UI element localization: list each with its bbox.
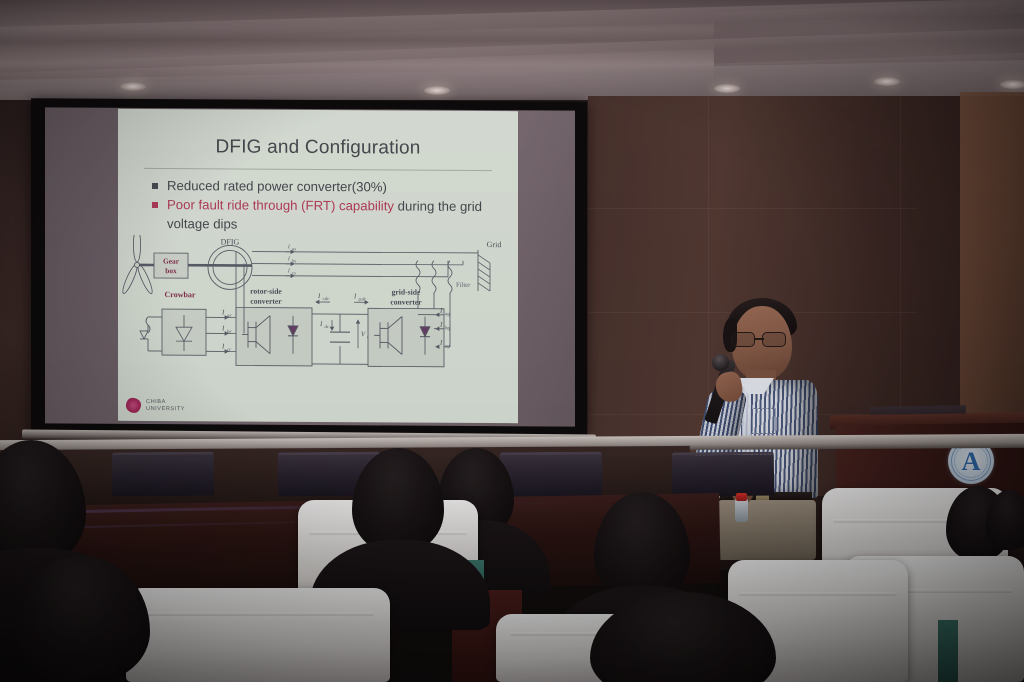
svg-text:I: I — [319, 321, 323, 328]
wall-seam — [588, 208, 918, 209]
svg-text:dc: dc — [325, 324, 329, 329]
svg-text:grid-side: grid-side — [392, 287, 421, 296]
chiba-logo-text: CHIBA UNIVERSITY — [146, 399, 185, 412]
svg-text:ag: ag — [445, 312, 450, 317]
title-divider — [144, 168, 492, 171]
ceiling-downlight — [120, 82, 146, 91]
svg-text:Filter: Filter — [456, 282, 471, 289]
empty-chair — [112, 452, 214, 497]
svg-text:br: br — [227, 330, 231, 335]
svg-text:box: box — [165, 266, 177, 275]
svg-text:i: i — [288, 243, 290, 250]
svg-text:ar: ar — [227, 314, 231, 319]
svg-text:r,dc: r,dc — [323, 296, 330, 302]
svg-text:converter: converter — [250, 297, 282, 306]
chiba-university-logo: CHIBA UNIVERSITY — [126, 398, 185, 413]
bullet-item: Reduced rated power converter(30%) — [152, 177, 500, 196]
presenter-shirt-pocket — [752, 408, 776, 434]
slide-bullet-list: Reduced rated power converter(30%) Poor … — [152, 177, 500, 234]
chair-frame — [938, 620, 958, 682]
ceiling-downlight — [1000, 80, 1024, 89]
empty-chair — [500, 452, 602, 497]
svg-text:cr: cr — [227, 348, 231, 353]
presenter-trousers — [718, 500, 816, 560]
svg-text:I: I — [221, 342, 225, 350]
ceiling-downlight — [424, 86, 450, 95]
glasses-lens-right — [762, 332, 786, 347]
svg-text:bg: bg — [445, 326, 450, 331]
empty-chair — [672, 452, 774, 497]
svg-text:I: I — [221, 308, 225, 316]
bullet-grey-part: during the grid — [394, 198, 482, 214]
svg-text:Crowbar: Crowbar — [165, 290, 196, 299]
svg-text:i: i — [288, 267, 290, 274]
svg-text:rotor-side: rotor-side — [250, 287, 282, 296]
bullet-text: Reduced rated power converter(30%) — [167, 177, 387, 195]
emblem-letter: A — [962, 447, 981, 477]
chiba-line-2: UNIVERSITY — [146, 405, 185, 412]
bottle-cap — [736, 493, 747, 501]
dfig-circuit-diagram: Gear box DFIG — [118, 235, 518, 387]
svg-text:V: V — [361, 331, 366, 338]
svg-text:i: i — [288, 255, 290, 262]
svg-text:Grid: Grid — [487, 240, 502, 249]
presenter-glasses — [730, 332, 792, 347]
presentation-slide: DFIG and Configuration Reduced rated pow… — [118, 109, 518, 423]
conference-room-photo: DFIG and Configuration Reduced rated pow… — [0, 0, 1024, 682]
svg-text:bs: bs — [292, 258, 296, 263]
svg-text:as: as — [292, 246, 296, 251]
svg-text:Gear: Gear — [163, 257, 180, 266]
bullet-square-icon — [152, 202, 158, 208]
bullet-item: Poor fault ride through (FRT) capability… — [152, 196, 500, 215]
svg-text:I: I — [221, 324, 225, 332]
svg-text:cg: cg — [445, 344, 450, 349]
bullet-text-highlight: Poor fault ride through (FRT) capability… — [167, 196, 482, 215]
svg-text:converter: converter — [390, 297, 422, 306]
chair-cover — [126, 588, 390, 682]
ceiling-downlight — [874, 77, 900, 86]
glasses-lens-left — [731, 332, 755, 347]
chiba-flower-icon — [126, 398, 141, 413]
ceiling-downlight — [714, 84, 740, 93]
svg-text:I: I — [317, 293, 321, 300]
water-bottle — [735, 498, 748, 522]
bullet-square-icon — [152, 183, 158, 189]
glasses-bridge — [755, 338, 764, 340]
svg-text:I: I — [353, 293, 357, 300]
bullet-continuation: voltage dips — [167, 215, 500, 234]
bullet-red-part: Poor fault ride through (FRT) capability — [167, 197, 394, 213]
slide-title: DFIG and Configuration — [118, 136, 518, 160]
svg-text:cs: cs — [292, 270, 296, 275]
